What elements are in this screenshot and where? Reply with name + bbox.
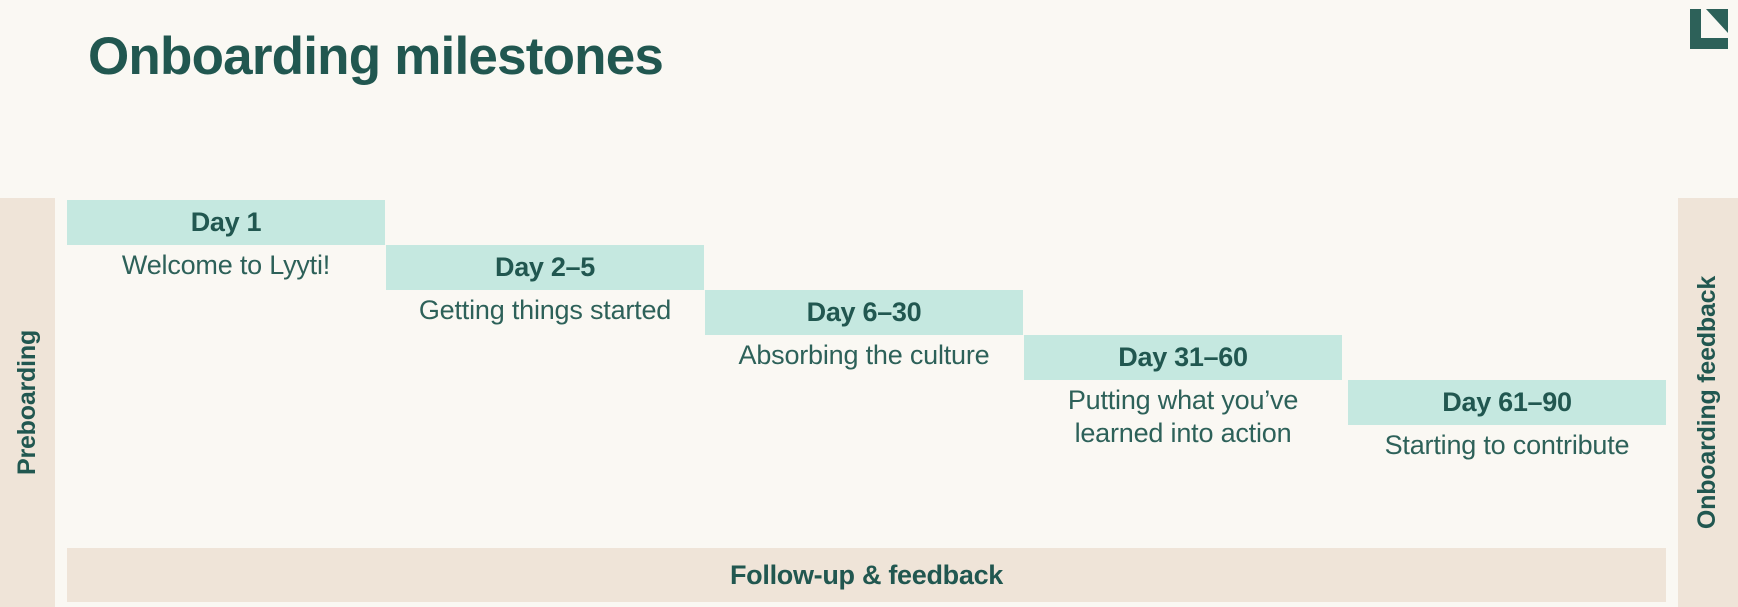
milestone-5: Day 61–90Starting to contribute (1348, 380, 1666, 462)
milestone-1-bar: Day 1 (67, 200, 385, 245)
milestone-staircase: Day 1Welcome to Lyyti!Day 2–5Getting thi… (0, 0, 1738, 607)
milestone-3-description: Absorbing the culture (705, 339, 1023, 372)
milestone-5-bar: Day 61–90 (1348, 380, 1666, 425)
milestone-1-label: Day 1 (191, 207, 262, 238)
milestone-5-description: Starting to contribute (1348, 429, 1666, 462)
milestone-2: Day 2–5Getting things started (386, 245, 704, 327)
milestone-4-label: Day 31–60 (1118, 342, 1247, 373)
milestone-4-description: Putting what you’ve learned into action (1024, 384, 1342, 451)
milestone-1-description: Welcome to Lyyti! (67, 249, 385, 282)
milestone-3: Day 6–30Absorbing the culture (705, 290, 1023, 372)
milestone-3-label: Day 6–30 (807, 297, 922, 328)
milestone-2-label: Day 2–5 (495, 252, 595, 283)
milestone-4-bar: Day 31–60 (1024, 335, 1342, 380)
footer-band: Follow-up & feedback (67, 548, 1666, 602)
footer-band-label: Follow-up & feedback (730, 560, 1003, 591)
slide-canvas: Onboarding milestones Preboarding Onboar… (0, 0, 1738, 607)
milestone-3-bar: Day 6–30 (705, 290, 1023, 335)
milestone-2-description: Getting things started (386, 294, 704, 327)
milestone-1: Day 1Welcome to Lyyti! (67, 200, 385, 282)
milestone-4: Day 31–60Putting what you’ve learned int… (1024, 335, 1342, 451)
milestone-2-bar: Day 2–5 (386, 245, 704, 290)
milestone-5-label: Day 61–90 (1442, 387, 1571, 418)
